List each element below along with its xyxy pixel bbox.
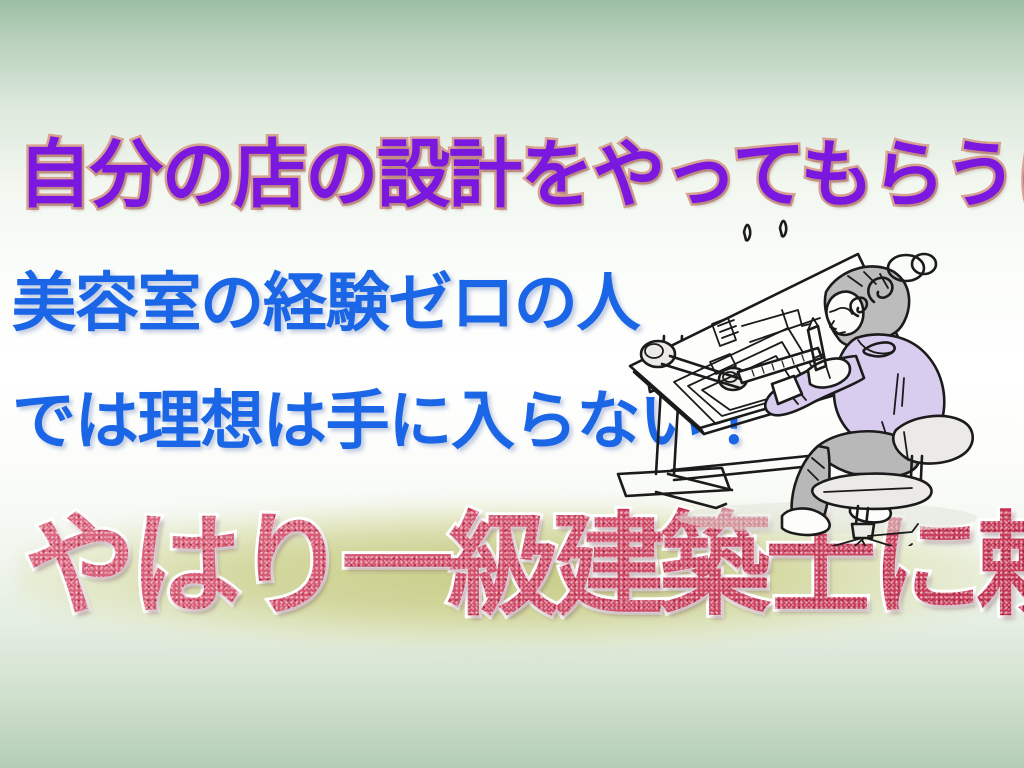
slide-canvas: 自分の店の設計をやってもらうには 美容室の経験ゼロの人 では理想は手に入らない！… (0, 0, 1024, 768)
headline-line-2: 美容室の経験ゼロの人 (12, 272, 639, 336)
architect-illustration: .ink { fill:none; stroke:#1b1b1b; stroke… (612, 206, 1022, 546)
architect-illustration-svg: .ink { fill:none; stroke:#1b1b1b; stroke… (612, 206, 1022, 546)
headline-line-1: 自分の店の設計をやってもらうには (18, 138, 1024, 212)
